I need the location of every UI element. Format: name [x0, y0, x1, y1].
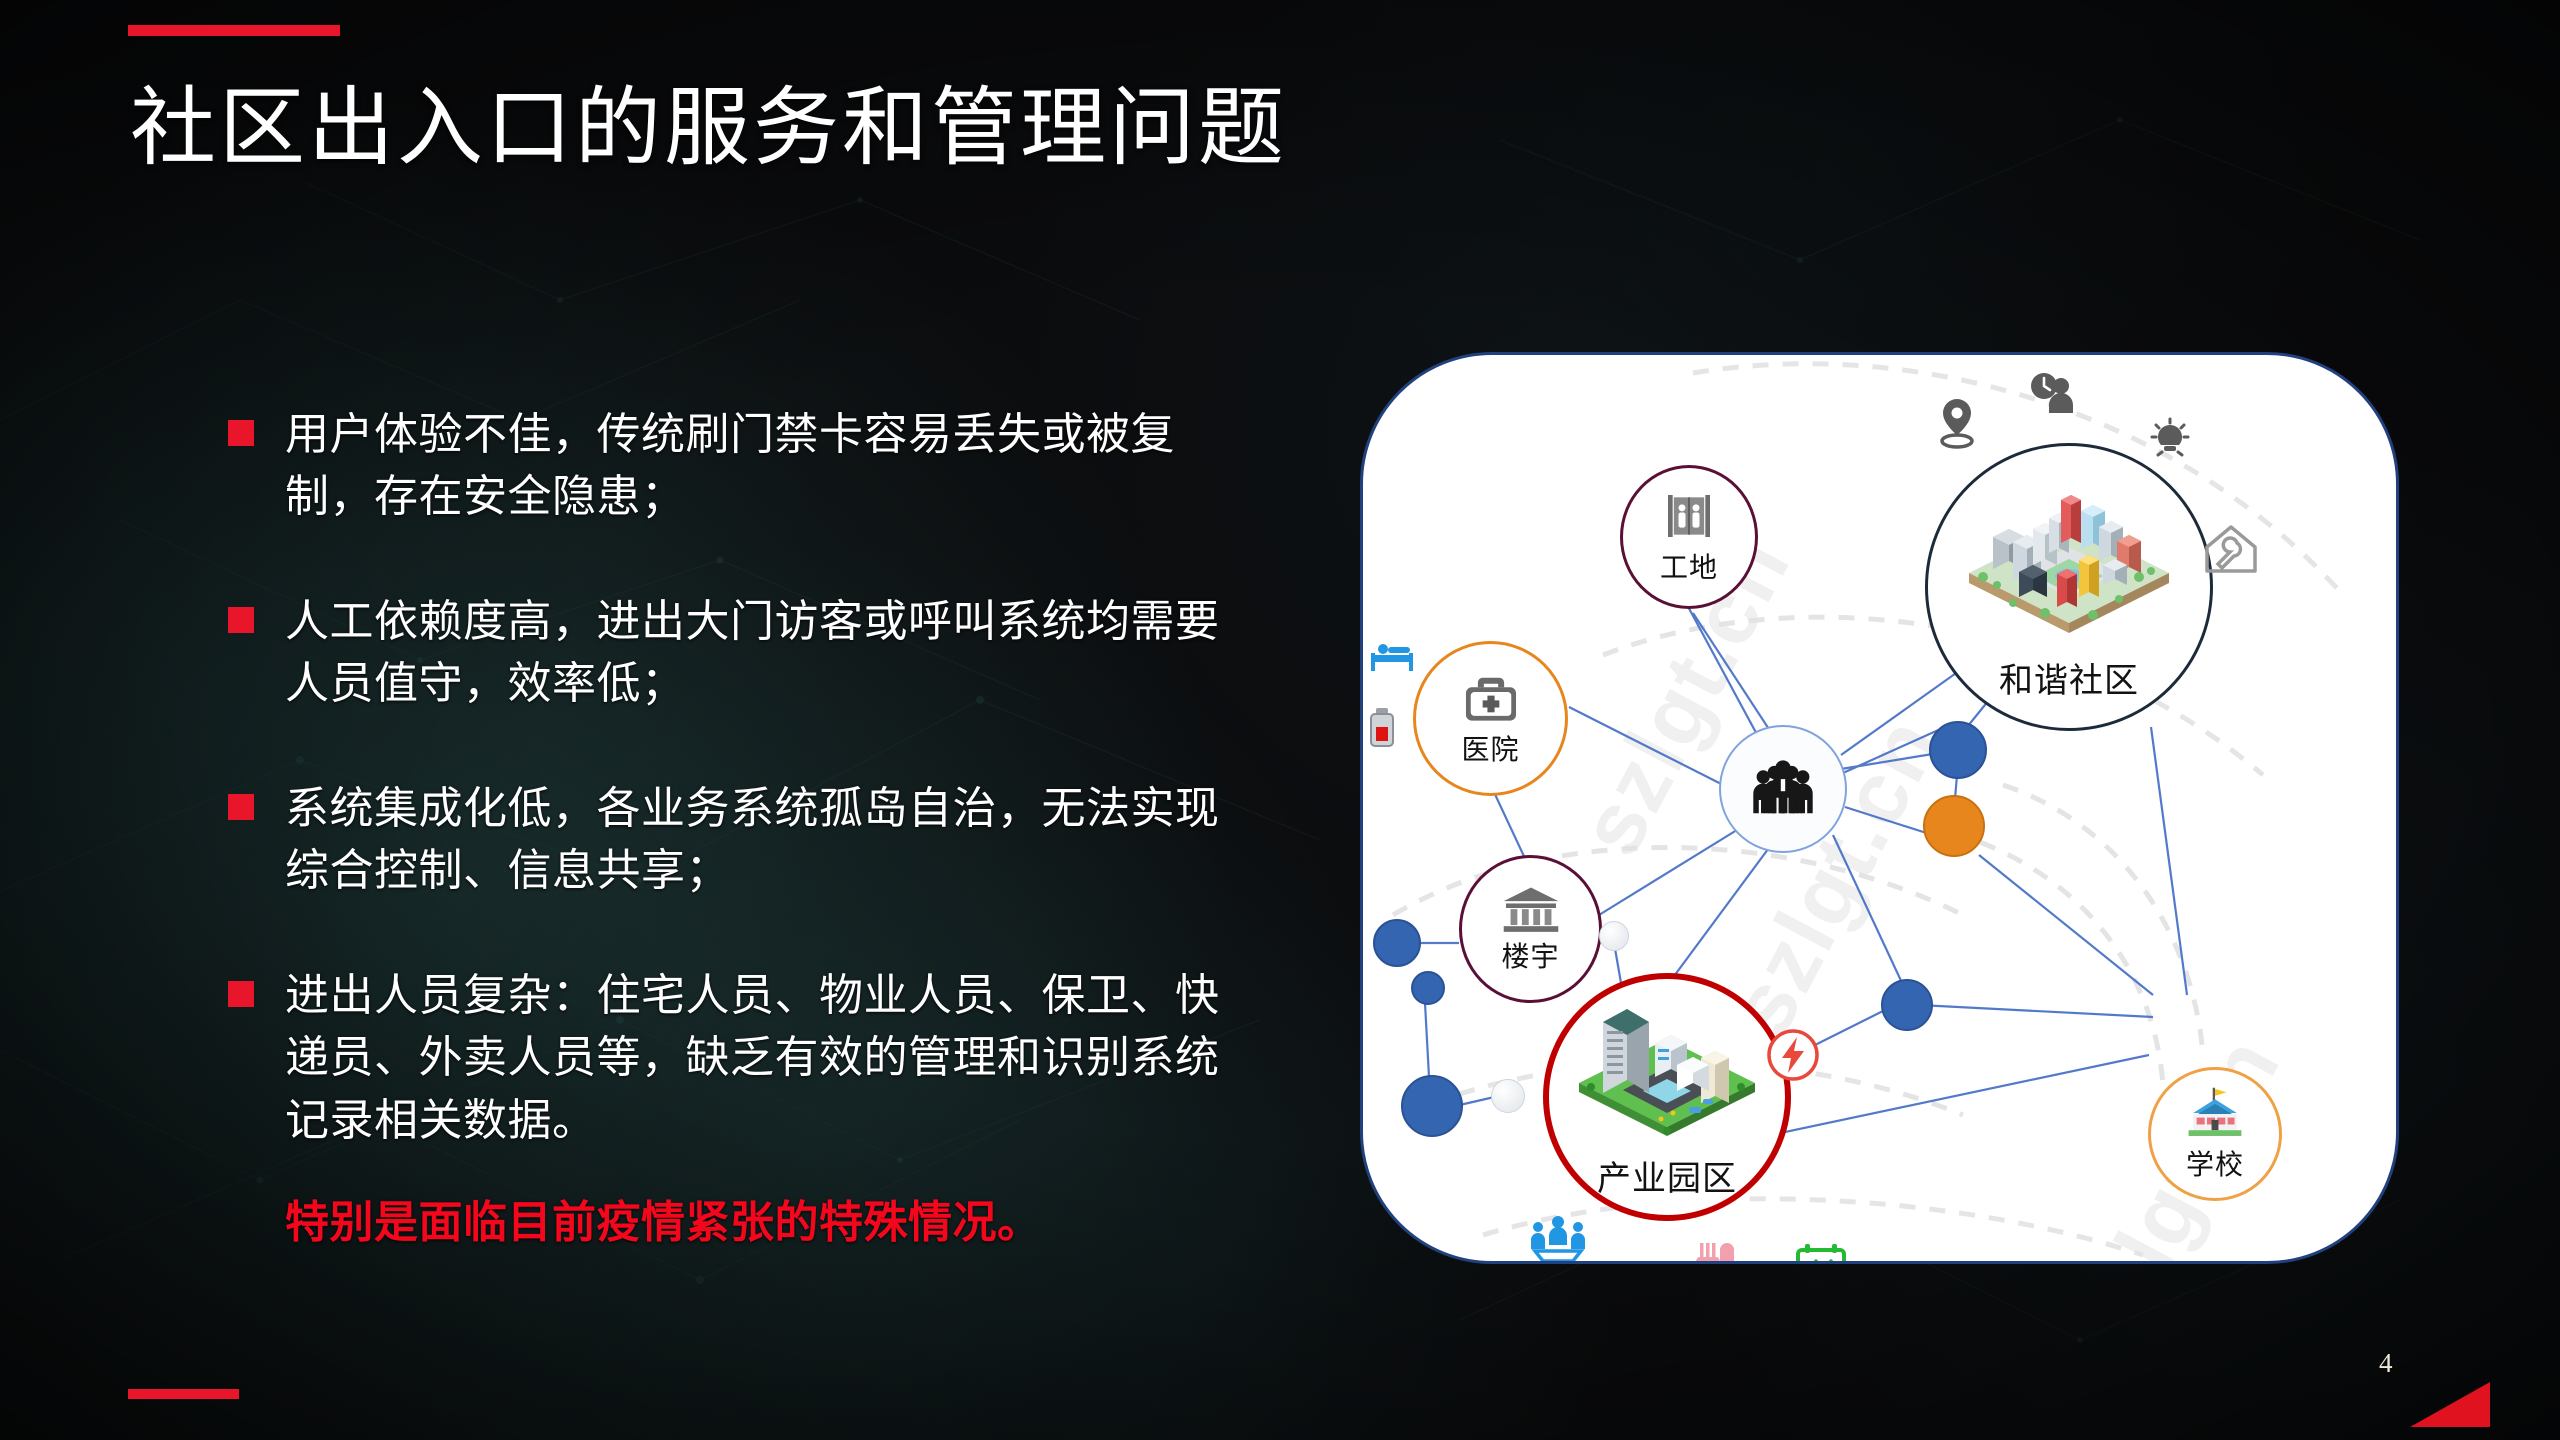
node-community[interactable]: 和谐社区 — [1925, 443, 2213, 731]
bullet-emphasis-note: 特别是面临目前疫情紧张的特殊情况。 — [285, 1192, 1248, 1254]
node-construction[interactable]: 工地 — [1620, 465, 1758, 609]
bullet-text-4: 进出人员复杂：住宅人员、物业人员、保卫、快递员、外卖人员等，缺乏有效的管理和识别… — [285, 965, 1248, 1255]
list-item: 进出人员复杂：住宅人员、物业人员、保卫、快递员、外卖人员等，缺乏有效的管理和识别… — [228, 965, 1248, 1255]
bullet-text-3: 系统集成化低，各业务系统孤岛自治，无法实现综合控制、信息共享； — [285, 778, 1248, 903]
bullet-text-4-main: 进出人员复杂：住宅人员、物业人员、保卫、快递员、外卖人员等，缺乏有效的管理和识别… — [285, 971, 1220, 1145]
location-pin-icon — [1935, 397, 1979, 453]
footer-triangle-decoration — [2410, 1382, 2490, 1427]
footer-accent-rule — [128, 1389, 239, 1399]
bullet-square-icon — [228, 607, 254, 633]
isometric-city-icon — [1953, 473, 2185, 645]
list-item: 系统集成化低，各业务系统孤岛自治，无法实现综合控制、信息共享； — [228, 778, 1248, 903]
elevator-icon — [1661, 488, 1717, 544]
node-school[interactable]: 学校 — [2148, 1067, 2282, 1201]
bullet-square-icon — [228, 420, 254, 446]
ecosystem-diagram-card: szlgt.cn szlgt.cn szlgt.cn — [1360, 352, 2399, 1264]
node-people-hub[interactable] — [1719, 725, 1847, 853]
lamp-light-icon — [2145, 417, 2195, 469]
bullet-square-icon — [228, 794, 254, 820]
accent-dot-blue-2 — [1881, 979, 1933, 1031]
clock-person-icon — [2027, 371, 2079, 421]
node-building[interactable]: 楼宇 — [1459, 855, 1602, 1003]
accent-dot-blue-5 — [1411, 971, 1445, 1005]
page-title: 社区出入口的服务和管理问题 — [130, 83, 1287, 173]
medical-bag-icon — [1460, 670, 1522, 726]
node-label-industrial-park: 产业园区 — [1597, 1151, 1737, 1200]
hospital-bed-icon — [1369, 640, 1417, 678]
node-hospital[interactable]: 医院 — [1413, 641, 1568, 796]
isometric-park-icon — [1569, 995, 1765, 1145]
accent-dot-blue-1 — [1929, 721, 1987, 779]
school-building-icon — [2184, 1085, 2246, 1141]
meeting-icon — [1529, 1215, 1587, 1264]
page-number: 4 — [2379, 1348, 2393, 1379]
bullet-square-icon — [228, 981, 254, 1007]
bullet-text-2: 人工依赖度高，进出大门访客或呼叫系统均需要人员值守，效率低； — [285, 591, 1248, 716]
list-item: 人工依赖度高，进出大门访客或呼叫系统均需要人员值守，效率低； — [228, 591, 1248, 716]
accent-dot-blue-3 — [1373, 919, 1421, 967]
node-label-school: 学校 — [2186, 1143, 2244, 1183]
accent-dot-pale-1 — [1599, 921, 1629, 951]
power-bolt-icon — [1765, 1027, 1821, 1087]
bank-building-icon — [1501, 883, 1561, 933]
people-group-icon — [1750, 760, 1816, 818]
node-industrial-park[interactable]: 产业园区 — [1543, 973, 1791, 1221]
title-accent-rule — [128, 25, 340, 36]
node-label-hospital: 医院 — [1461, 728, 1519, 768]
cutlery-icon — [1695, 1241, 1737, 1264]
accent-dot-blue-4 — [1401, 1075, 1463, 1137]
bullet-text-1: 用户体验不佳，传统刷门禁卡容易丢失或被复制，存在安全隐患； — [285, 404, 1248, 529]
house-repair-icon — [2203, 523, 2259, 579]
medicine-jar-icon — [1365, 707, 1399, 753]
node-label-community: 和谐社区 — [1999, 653, 2139, 702]
accent-dot-pale-2 — [1491, 1079, 1525, 1113]
accent-dot-orange — [1923, 795, 1985, 857]
node-label-construction: 工地 — [1660, 546, 1718, 586]
list-item: 用户体验不佳，传统刷门禁卡容易丢失或被复制，存在安全隐患； — [228, 404, 1248, 529]
bullet-list: 用户体验不佳，传统刷门禁卡容易丢失或被复制，存在安全隐患； 人工依赖度高，进出大… — [228, 404, 1248, 1255]
checklist-icon — [1795, 1243, 1847, 1264]
node-label-building: 楼宇 — [1501, 935, 1559, 975]
